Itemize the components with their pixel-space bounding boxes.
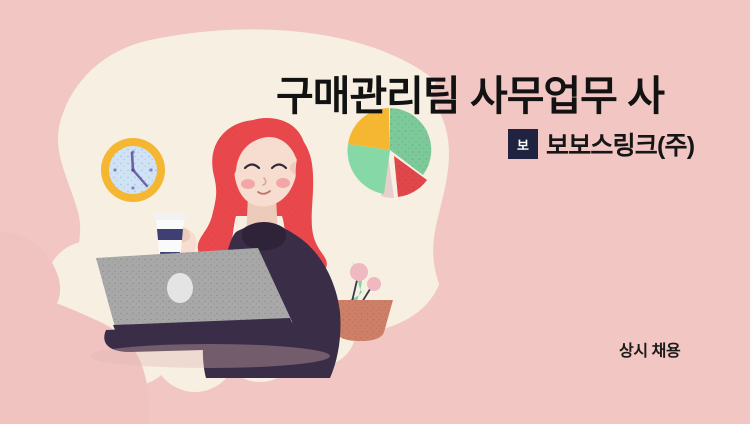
blush-right [276, 178, 290, 188]
wall-clock-illustration [101, 138, 165, 202]
clock-dot-3 [149, 168, 152, 171]
clock-center-pin [131, 168, 135, 172]
status-badge: 상시 채용 [619, 337, 680, 361]
company-row[interactable]: 보 보보스링크(주) [508, 126, 694, 162]
page-title: 구매관리팀 사무업무 사 [276, 72, 750, 120]
cup-sleeve-top [157, 229, 183, 240]
company-name[interactable]: 보보스링크(주) [546, 126, 694, 162]
clock-hour-hand [132, 153, 133, 170]
clock-dot-6 [131, 186, 134, 189]
company-logo-badge: 보 [508, 129, 538, 159]
flower-bloom-1 [350, 263, 368, 281]
cup-lid [154, 213, 186, 220]
clock-dot-9 [113, 168, 116, 171]
flower-bloom-2 [367, 277, 381, 291]
desk-shadow [90, 344, 330, 368]
pink-right-wave [430, 0, 750, 424]
laptop-logo [167, 273, 193, 303]
job-posting-banner: 구매관리팀 사무업무 사 보 보보스링크(주) 상시 채용 [0, 0, 750, 424]
blush-left [241, 179, 255, 189]
turtleneck-collar [242, 222, 286, 251]
